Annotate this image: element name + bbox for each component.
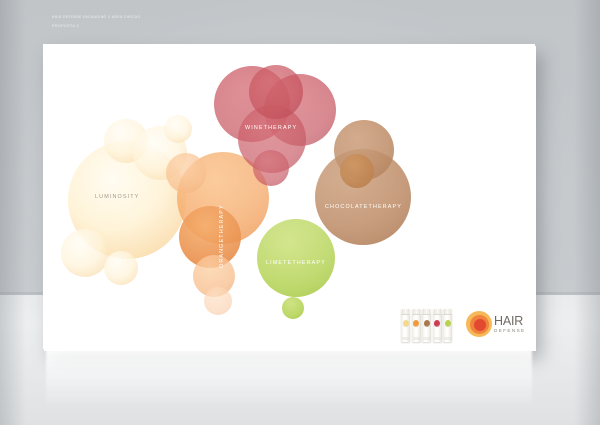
wine-sachet[interactable]: [433, 309, 442, 342]
sachet-fruit-icon: [445, 320, 451, 327]
sachet-crimp-top: [412, 309, 421, 315]
sachet-label-lines: [434, 337, 441, 340]
bubble-limetetherapy-0[interactable]: [257, 219, 335, 297]
sachet-fruit-icon: [424, 320, 430, 327]
logo-name-primary: HAIR: [494, 315, 526, 328]
sachet-label-lines: [423, 337, 430, 340]
logo-mark-icon: [466, 311, 492, 337]
orange-sachet[interactable]: [412, 309, 421, 342]
chocolate-sachet[interactable]: [422, 309, 431, 342]
bubble-label-orangetherapy: ORANGETHERAPY: [219, 204, 225, 268]
sachet-label-lines: [402, 337, 409, 340]
luminosity-sachet[interactable]: [401, 309, 410, 342]
slide-reflection-edge: [128, 350, 458, 351]
sachet-fruit-icon: [403, 320, 409, 327]
bubble-limetetherapy-1[interactable]: [282, 297, 304, 319]
bubble-label-winetherapy: WINETHERAPY: [245, 125, 297, 131]
slide-header: HAIR DEFENSE PACKAGING // AREA CHECAO PR…: [52, 14, 352, 30]
header-proposal-line: PROPOSTA 3: [52, 23, 352, 30]
backdrop-edge-left: [0, 0, 26, 425]
sachet-fruit-icon: [413, 320, 419, 327]
sachet-label-lines: [413, 337, 420, 340]
backdrop-edge-right: [574, 0, 600, 425]
lime-sachet[interactable]: [443, 309, 452, 342]
slide-reflection: [46, 349, 532, 409]
bubble-label-luminosity: LUMINOSITY: [95, 194, 139, 200]
bubble-label-limetetherapy: LIMETETHERAPY: [266, 260, 326, 266]
sachet-crimp-top: [433, 309, 442, 315]
logo-name-secondary: DEFENSE: [494, 329, 526, 334]
sachet-crimp-top: [443, 309, 452, 315]
sachet-crimp-top: [422, 309, 431, 315]
hair-defense-logo[interactable]: HAIRDEFENSE: [466, 311, 526, 337]
sachet-fruit-icon: [434, 320, 440, 327]
header-project-line: HAIR DEFENSE PACKAGING // AREA CHECAO: [52, 14, 352, 20]
sachet-crimp-top: [401, 309, 410, 315]
presentation-slide[interactable]: LUMINOSITYORANGETHERAPYWINETHERAPYCHOCOL…: [43, 44, 535, 349]
bubble-label-chocolatetherapy: CHOCOLATETHERAPY: [325, 204, 402, 210]
screenshot-stage: HAIR DEFENSE PACKAGING // AREA CHECAO PR…: [0, 0, 600, 425]
sachet-label-lines: [444, 337, 451, 340]
product-sachet-row[interactable]: [401, 309, 452, 342]
